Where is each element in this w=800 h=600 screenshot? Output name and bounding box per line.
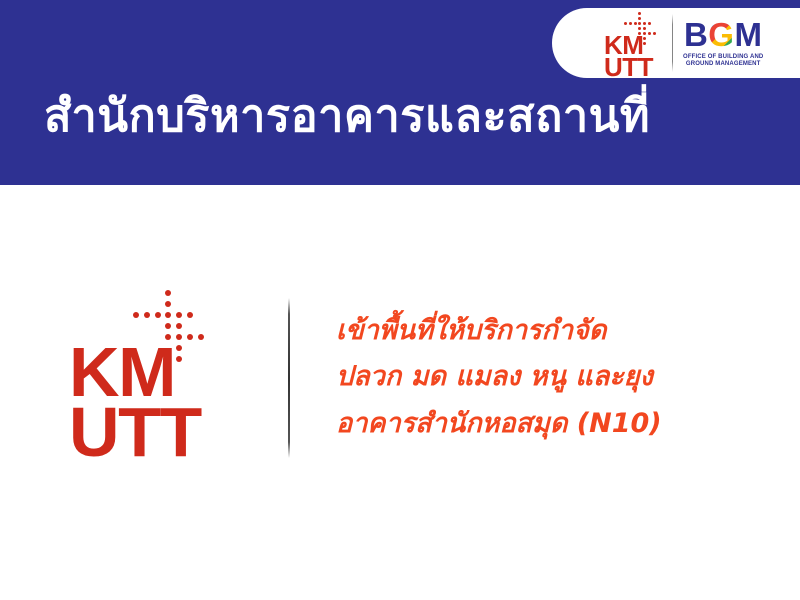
content-row: KM UTT เข้าพื้นที่ให้บริการกำจัด ปลวก มด… (0, 285, 800, 470)
header-kmutt-logo: KM UTT (600, 12, 666, 74)
service-line-3: อาคารสำนักหอสมุด (N10) (336, 401, 662, 447)
header-kmutt-line2: UTT (604, 56, 653, 78)
bgm-letter-m: M (734, 18, 762, 51)
body-kmutt-logo: KM UTT (69, 290, 219, 465)
service-line-2: ปลวก มด แมลง หนู และยุง (336, 354, 662, 400)
vertical-divider (288, 298, 290, 458)
header-bgm-logo: B G M OFFICE OF BUILDING AND GROUND MANA… (683, 18, 763, 69)
service-line-1: เข้าพื้นที่ให้บริการกำจัด (336, 308, 662, 354)
bgm-subtitle: OFFICE OF BUILDING AND GROUND MANAGEMENT (683, 54, 763, 69)
bgm-letter-b: B (684, 18, 708, 51)
logo-divider (672, 14, 673, 72)
service-announcement: เข้าพื้นที่ให้บริการกำจัด ปลวก มด แมลง ห… (336, 308, 662, 447)
body-kmutt-logo-wrap: KM UTT (0, 290, 288, 465)
bgm-wordmark: B G M (684, 18, 763, 51)
bgm-letter-g: G (708, 18, 734, 51)
logo-pill: KM UTT B G M OFFICE OF BUILDING AND GROU… (552, 8, 800, 78)
body-area: KM UTT เข้าพื้นที่ให้บริการกำจัด ปลวก มด… (0, 185, 800, 600)
header-banner: KM UTT B G M OFFICE OF BUILDING AND GROU… (0, 0, 800, 185)
body-kmutt-line2: UTT (69, 402, 201, 462)
page-title: สำนักบริหารอาคารและสถานที่ (44, 92, 650, 139)
